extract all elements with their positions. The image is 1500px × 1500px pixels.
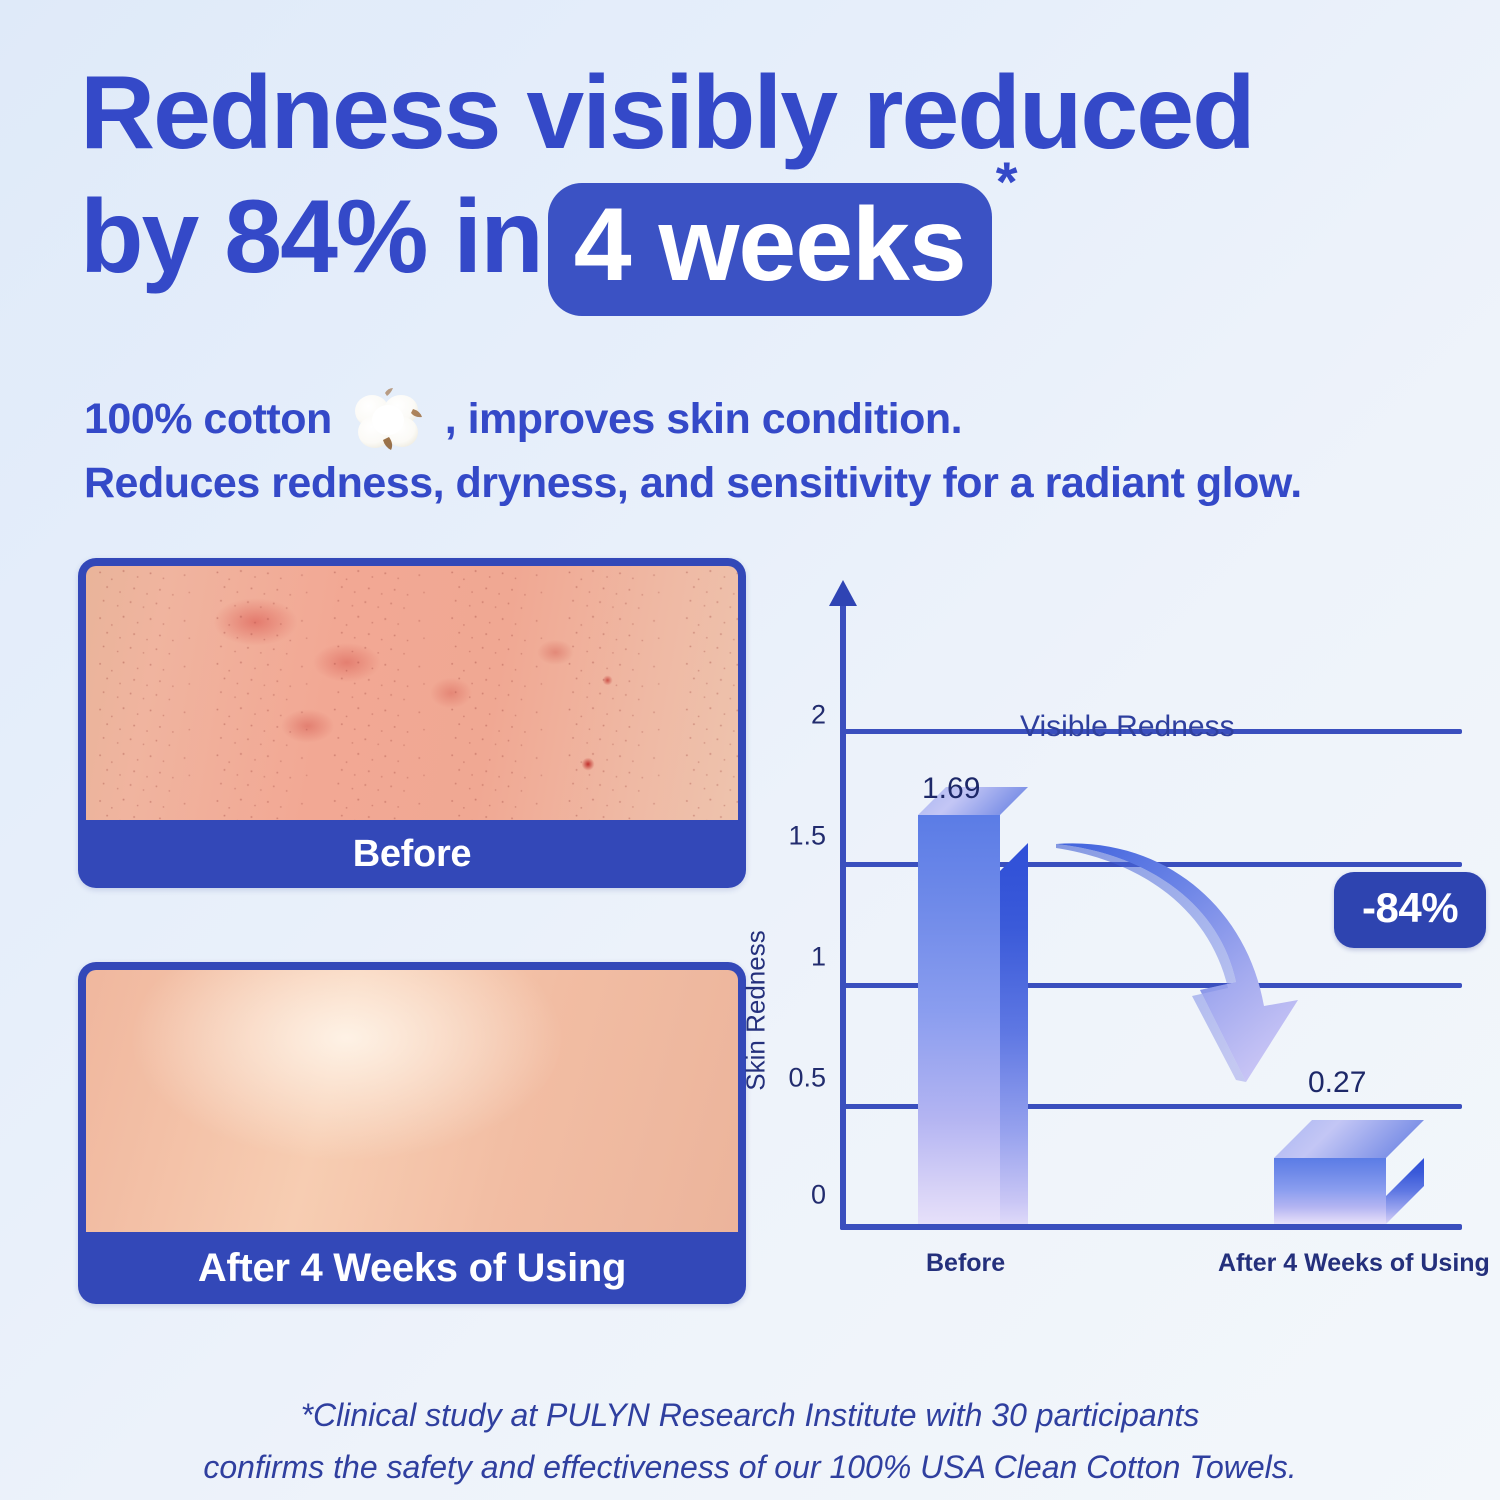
y-axis-title-label: Skin Redness [741,930,772,1090]
reduction-percentage-badge: -84% [1334,872,1486,948]
page-headline: Redness visibly reduced by 84% in4 weeks… [80,55,1440,316]
y-axis-arrow-icon [829,580,857,606]
bar-before-side-face [1000,843,1028,1224]
bar-before [918,815,1028,1224]
headline-line-2: by 84% in4 weeks* [80,179,1440,315]
bar-after-top-face [1274,1120,1424,1160]
weeks-highlight-badge: 4 weeks [548,183,992,315]
bar-after-side-face [1386,1158,1424,1224]
headline-asterisk: * [996,150,1016,213]
subtitle-line-1: 100% cotton , improve [84,385,1424,452]
bar-after [1274,1158,1424,1224]
footnote-line-2: confirms the safety and effectiveness of… [0,1442,1500,1494]
subtitle-text-before-icon: 100% cotton [84,395,332,443]
chart-title: Visible Redness [1020,710,1235,744]
before-skin-texture [86,566,738,820]
before-comparison-card: Before [78,558,746,888]
subtitle-line-2: Reduces redness, dryness, and sensitivit… [84,452,1424,516]
y-tick-0: 0 [811,1180,826,1211]
bar-before-value-label: 1.69 [922,772,980,806]
chart-plot-area: 2 1.5 1 0.5 0 Visible Redness 1.69 0.27 [840,660,1460,1230]
clinical-study-footnote: *Clinical study at PULYN Research Instit… [0,1390,1500,1494]
cotton-boll-icon [345,387,431,453]
x-category-label-before: Before [926,1249,1005,1278]
page-subtitle: 100% cotton , improve [84,385,1424,515]
after-comparison-card: After 4 Weeks of Using [78,962,746,1304]
y-tick-0-5: 0.5 [788,1063,826,1094]
y-axis-line [840,602,846,1230]
headline-line-1: Redness visibly reduced [80,55,1440,171]
y-tick-1-5: 1.5 [788,821,826,852]
y-tick-2: 2 [811,700,826,731]
footnote-line-1: *Clinical study at PULYN Research Instit… [0,1390,1500,1442]
y-tick-1: 1 [811,942,826,973]
curved-down-right-arrow-icon [1050,830,1350,1110]
subtitle-text-after-icon: , improves skin condition. [445,395,962,443]
bar-before-front-face [918,815,1000,1224]
after-skin-photo [86,970,738,1232]
after-card-label: After 4 Weeks of Using [86,1232,738,1304]
headline-line-2-prefix: by 84% in [80,179,542,295]
x-axis-line [840,1224,1462,1230]
before-card-label: Before [86,820,738,888]
x-category-label-after: After 4 Weeks of Using [1218,1249,1490,1278]
skin-redness-bar-chart: Skin Redness 2 1.5 1 0.5 0 Visible Redne… [770,640,1460,1300]
after-skin-texture [86,970,738,1232]
bar-after-front-face [1274,1158,1386,1224]
before-skin-photo [86,566,738,820]
